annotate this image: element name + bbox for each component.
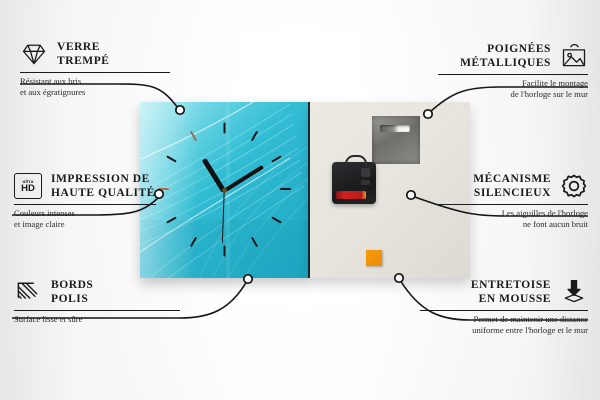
diamond-icon [20,40,48,68]
feature-poignees-metalliques: POIGNÉES MÉTALLIQUES Facilite le montage… [438,42,588,99]
clock-front-panel [140,102,310,278]
clock-hub [222,188,227,193]
feature-description: Surface lisse et sûre [14,314,180,325]
feature-divider [14,310,180,311]
feature-title: IMPRESSION DE HAUTE QUALITÉ [51,172,155,200]
down-arrow-stack-icon [560,278,588,306]
feature-description: Résistant aux bris et aux égratignures [20,76,170,97]
mechanism-dial-secondary [361,180,370,185]
feature-heading-row: ultra HD IMPRESSION DE HAUTE QUALITÉ [14,172,156,200]
product-image [140,102,470,278]
tick-mark [223,123,225,134]
feature-title: ENTRETOISE EN MOUSSE [471,278,551,306]
feature-divider [14,204,156,205]
feature-heading-row: VERRE TREMPÉ [20,40,170,68]
feature-divider [438,204,588,205]
feature-title: BORDS POLIS [51,278,93,306]
orange-foam-spacer [366,250,382,266]
feature-heading-row: ENTRETOISE EN MOUSSE [420,278,588,306]
feature-bords-polis: BORDS POLIS Surface lisse et sûre [14,278,180,325]
feature-divider [438,74,588,75]
tick-mark [158,188,169,190]
infographic-canvas: VERRE TREMPÉ Résistant aux bris et aux é… [0,0,600,400]
feature-divider [420,310,588,311]
aa-battery [336,191,366,199]
tick-mark [280,188,291,190]
feature-description: Les aiguilles de l'horloge ne font aucun… [438,208,588,229]
picture-hanger-icon [560,42,588,70]
tick-mark [223,246,225,257]
feature-heading-row: POIGNÉES MÉTALLIQUES [438,42,588,70]
feature-mecanisme-silencieux: MÉCANISME SILENCIEUX Les aiguilles de l'… [438,172,588,229]
feature-description: Couleurs intenses et image claire [14,208,156,229]
mechanism-dial [361,168,370,177]
feature-description: Permet de maintenir une distance uniform… [420,314,588,335]
feature-title: POIGNÉES MÉTALLIQUES [460,42,551,70]
feature-verre-trempe: VERRE TREMPÉ Résistant aux bris et aux é… [20,40,170,97]
ultra-hd-icon-main: HD [21,184,35,194]
feature-title: VERRE TREMPÉ [57,40,110,68]
feature-impression-haute-qualite: ultra HD IMPRESSION DE HAUTE QUALITÉ Cou… [14,172,156,229]
clock-mechanism [332,162,376,204]
metallic-hanger-plate [372,116,420,164]
feature-heading-row: MÉCANISME SILENCIEUX [438,172,588,200]
hanging-loop [345,155,367,167]
feature-heading-row: BORDS POLIS [14,278,180,306]
feature-entretoise-en-mousse: ENTRETOISE EN MOUSSE Permet de maintenir… [420,278,588,335]
feature-title: MÉCANISME SILENCIEUX [473,172,551,200]
gear-icon [560,172,588,200]
polished-edges-icon [14,278,42,306]
feature-description: Facilite le montage de l'horloge sur le … [438,78,588,99]
feature-divider [20,72,170,73]
hanger-slot [380,125,410,132]
ultra-hd-icon: ultra HD [14,173,42,199]
